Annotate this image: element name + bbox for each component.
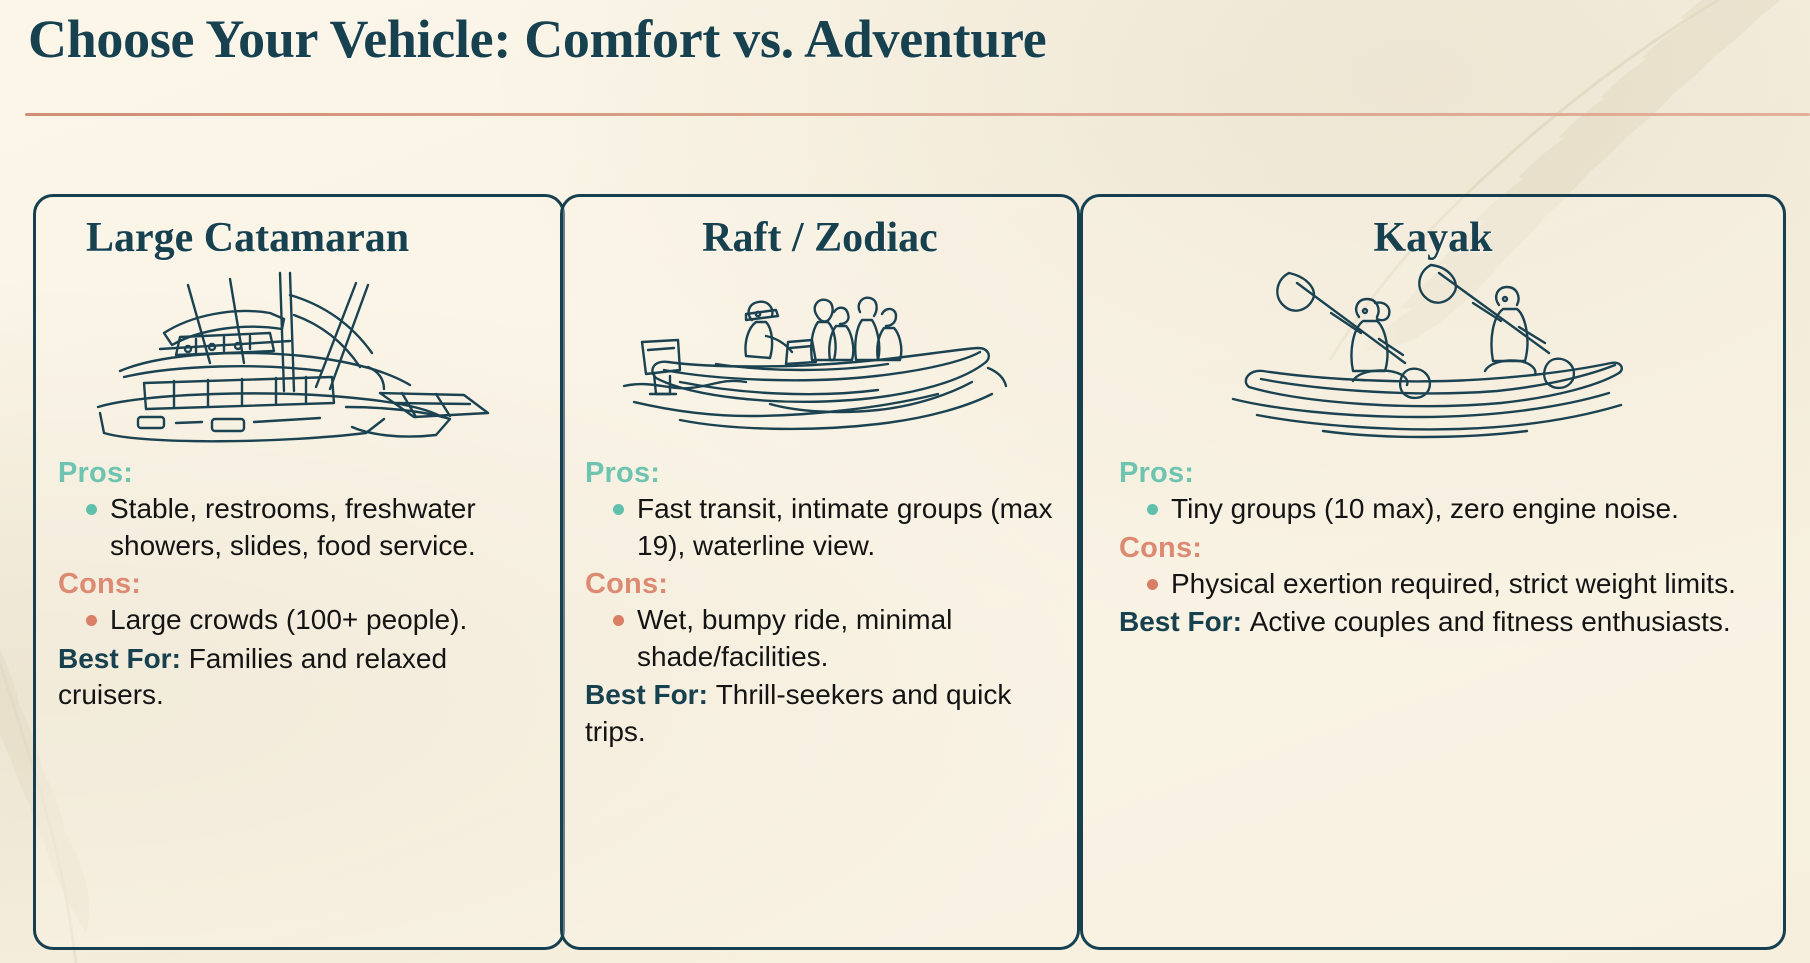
best-for-label: Best For: bbox=[585, 679, 716, 710]
raft-zodiac-illustration bbox=[585, 269, 1055, 445]
cons-label: Cons: bbox=[585, 566, 1055, 602]
list-item: Stable, restrooms, freshwater showers, s… bbox=[84, 491, 540, 564]
card-title: Kayak bbox=[1105, 215, 1761, 261]
card-body: Pros: Fast transit, intimate groups (max… bbox=[585, 455, 1055, 750]
vehicle-card-raft-zodiac[interactable]: Raft / Zodiac bbox=[560, 194, 1080, 950]
pros-list: Stable, restrooms, freshwater showers, s… bbox=[58, 491, 540, 564]
card-body: Pros: Stable, restrooms, freshwater show… bbox=[58, 455, 540, 713]
card-title: Raft / Zodiac bbox=[585, 215, 1055, 261]
list-item: Wet, bumpy ride, minimal shade/facilitie… bbox=[611, 602, 1055, 675]
pros-label: Pros: bbox=[1119, 455, 1761, 491]
pros-list: Tiny groups (10 max), zero engine noise. bbox=[1119, 491, 1761, 527]
cons-label: Cons: bbox=[1119, 530, 1761, 566]
card-title: Large Catamaran bbox=[58, 215, 540, 261]
cons-label: Cons: bbox=[58, 566, 540, 602]
pros-label: Pros: bbox=[58, 455, 540, 491]
list-item: Tiny groups (10 max), zero engine noise. bbox=[1145, 491, 1761, 527]
best-for-line: Best For: Active couples and fitness ent… bbox=[1119, 604, 1761, 640]
vehicle-card-kayak[interactable]: Kayak bbox=[1080, 194, 1786, 950]
pros-list: Fast transit, intimate groups (max 19), … bbox=[585, 491, 1055, 564]
list-item: Large crowds (100+ people). bbox=[84, 602, 540, 638]
kayak-illustration bbox=[1105, 269, 1761, 445]
best-for-line: Best For: Thrill-seekers and quick trips… bbox=[585, 677, 1055, 750]
card-body: Pros: Tiny groups (10 max), zero engine … bbox=[1105, 455, 1761, 641]
pros-label: Pros: bbox=[585, 455, 1055, 491]
list-item: Physical exertion required, strict weigh… bbox=[1145, 566, 1761, 602]
catamaran-illustration bbox=[58, 269, 540, 445]
cons-list: Physical exertion required, strict weigh… bbox=[1119, 566, 1761, 602]
vehicle-card-large-catamaran[interactable]: Large Catamaran bbox=[33, 194, 565, 950]
cons-list: Large crowds (100+ people). bbox=[58, 602, 540, 638]
best-for-line: Best For: Families and relaxed cruisers. bbox=[58, 641, 540, 714]
best-for-text: Active couples and fitness enthusiasts. bbox=[1250, 606, 1731, 637]
cons-list: Wet, bumpy ride, minimal shade/facilitie… bbox=[585, 602, 1055, 675]
best-for-label: Best For: bbox=[58, 643, 189, 674]
list-item: Fast transit, intimate groups (max 19), … bbox=[611, 491, 1055, 564]
best-for-label: Best For: bbox=[1119, 606, 1250, 637]
vehicle-card-grid: Large Catamaran bbox=[0, 0, 1810, 963]
